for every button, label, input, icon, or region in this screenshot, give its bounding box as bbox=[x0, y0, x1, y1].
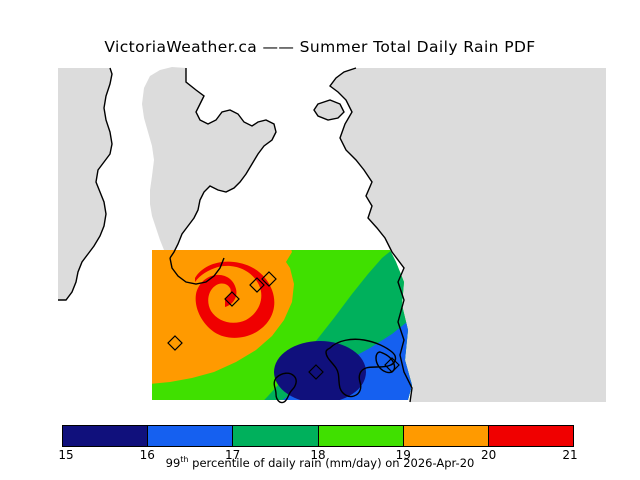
upper-peninsula-landmass bbox=[142, 67, 276, 258]
figure-root: VictoriaWeather.ca —— Summer Total Daily… bbox=[0, 0, 640, 480]
map-canvas bbox=[0, 0, 640, 480]
contour-band-15-16 bbox=[274, 341, 366, 403]
colorbar-band-15-16 bbox=[63, 426, 148, 446]
colorbar-strip bbox=[62, 425, 574, 447]
colorbar-band-16-17 bbox=[148, 426, 233, 446]
colorbar-caption: 99th percentile of daily rain (mm/day) o… bbox=[0, 455, 640, 470]
colorbar: 15 16 17 18 19 20 21 bbox=[62, 425, 574, 447]
colorbar-band-18-19 bbox=[319, 426, 404, 446]
caption-superscript: th bbox=[180, 455, 188, 464]
caption-rest: percentile of daily rain (mm/day) on 202… bbox=[189, 456, 475, 470]
colorbar-band-20-21 bbox=[489, 426, 573, 446]
colorbar-band-19-20 bbox=[404, 426, 489, 446]
caption-prefix: 99 bbox=[166, 456, 181, 470]
contour-field bbox=[140, 240, 430, 418]
west-landmass bbox=[58, 68, 112, 300]
colorbar-band-17-18 bbox=[233, 426, 318, 446]
